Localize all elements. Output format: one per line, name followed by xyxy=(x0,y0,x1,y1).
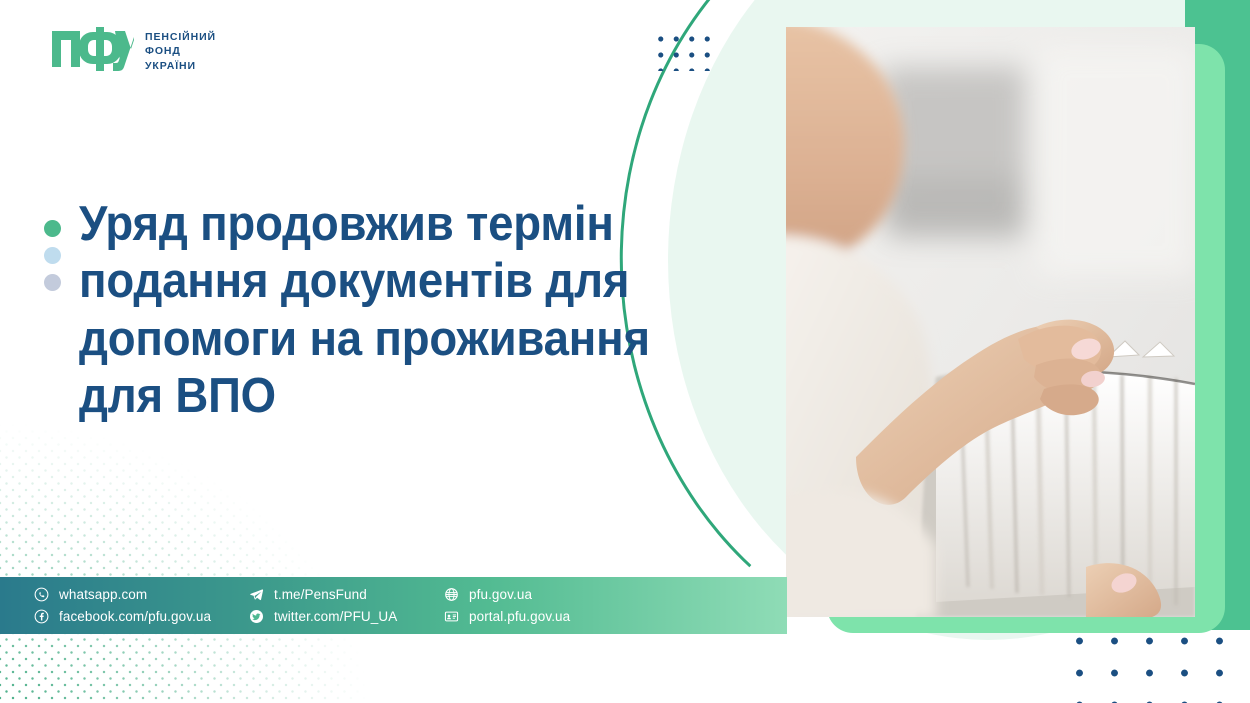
footer-link-twitter[interactable]: twitter.com/PFU_UA xyxy=(249,609,444,624)
headline-block: Уряд продовжив термін подання документів… xyxy=(44,196,744,425)
footer-link-label: whatsapp.com xyxy=(59,588,147,602)
footer-link-label: twitter.com/PFU_UA xyxy=(274,610,397,624)
footer-link-telegram[interactable]: t.me/PensFund xyxy=(249,587,444,602)
footer-link-label: facebook.com/pfu.gov.ua xyxy=(59,610,211,624)
facebook-icon xyxy=(34,609,49,624)
telegram-icon xyxy=(249,587,264,602)
dot-grid-bottom-right-decoration xyxy=(1062,621,1250,703)
footer-link-label: pfu.gov.ua xyxy=(469,588,532,602)
globe-icon xyxy=(444,587,459,602)
hero-photo xyxy=(786,27,1195,617)
bullet-light-blue-icon xyxy=(44,247,61,264)
contact-footer-bar: whatsapp.com facebook.com/pfu.gov.ua t.m… xyxy=(0,577,787,634)
whatsapp-icon xyxy=(34,587,49,602)
pfu-logo-icon xyxy=(52,27,134,76)
bullet-decorations xyxy=(44,196,61,425)
pfu-logo: Пенсійний Фонд України xyxy=(52,27,216,76)
footer-link-website[interactable]: pfu.gov.ua xyxy=(444,587,644,602)
portal-icon xyxy=(444,609,459,624)
footer-column-messaging: t.me/PensFund twitter.com/PFU_UA xyxy=(249,587,444,624)
bullet-green-icon xyxy=(44,220,61,237)
pfu-logo-wordmark: Пенсійний Фонд України xyxy=(145,30,216,72)
logo-line-1: Пенсійний xyxy=(145,30,216,44)
footer-link-label: t.me/PensFund xyxy=(274,588,367,602)
footer-link-portal[interactable]: portal.pfu.gov.ua xyxy=(444,609,644,624)
footer-link-label: portal.pfu.gov.ua xyxy=(469,610,570,624)
bullet-gray-blue-icon xyxy=(44,274,61,291)
footer-link-facebook[interactable]: facebook.com/pfu.gov.ua xyxy=(34,609,249,624)
logo-line-2: Фонд xyxy=(145,44,216,58)
documents-photo-icon xyxy=(786,27,1195,617)
footer-column-social: whatsapp.com facebook.com/pfu.gov.ua xyxy=(34,587,249,624)
twitter-icon xyxy=(249,609,264,624)
footer-link-whatsapp[interactable]: whatsapp.com xyxy=(34,587,249,602)
logo-line-3: України xyxy=(145,59,216,73)
dot-grid-top-decoration xyxy=(653,31,715,71)
page-title: Уряд продовжив термін подання документів… xyxy=(79,196,697,425)
footer-column-web: pfu.gov.ua portal.pfu.gov.ua xyxy=(444,587,644,624)
poster-canvas: Пенсійний Фонд України Уряд продовжив те… xyxy=(0,0,1250,703)
